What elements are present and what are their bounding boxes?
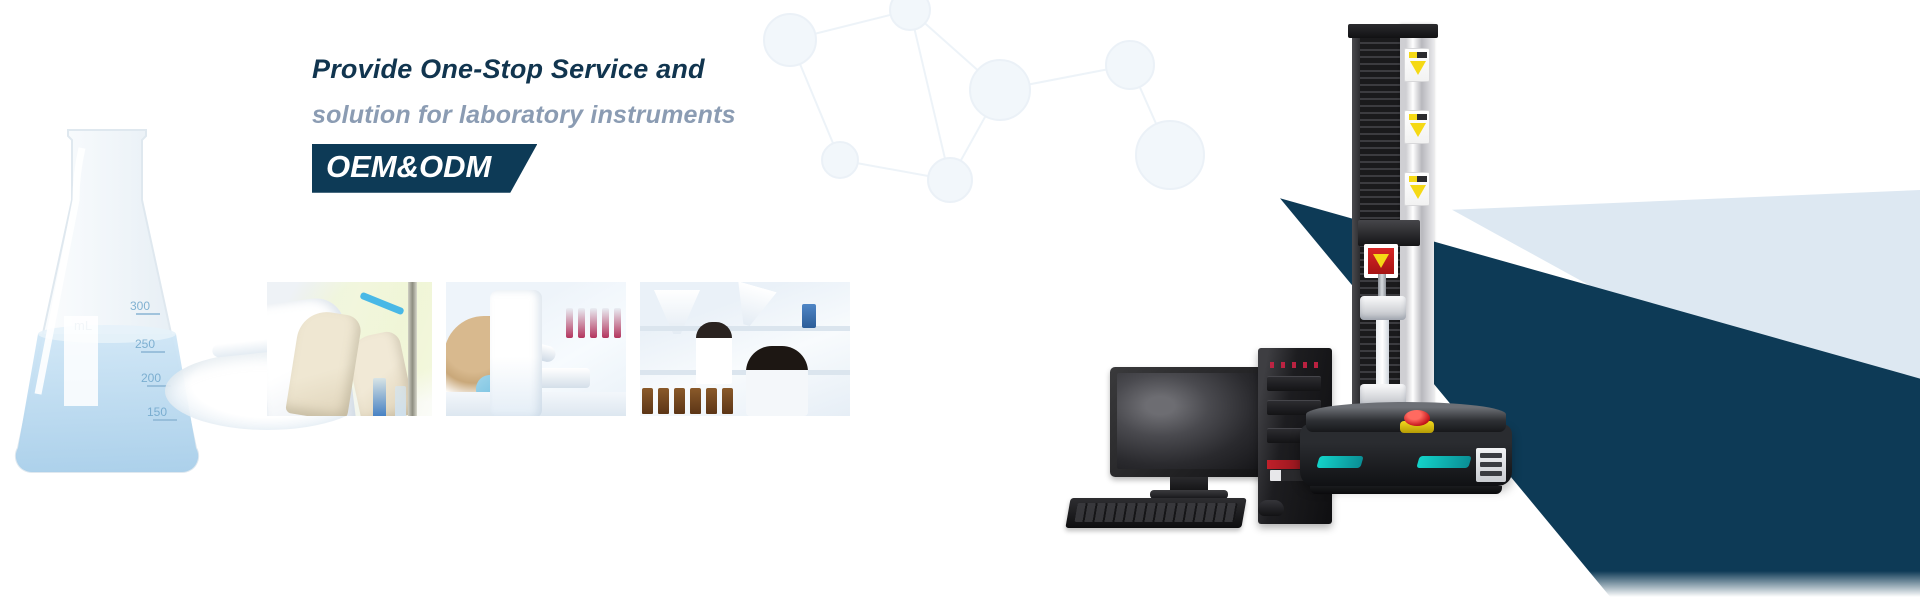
upper-grip (1360, 296, 1406, 320)
funnel-icon (727, 282, 776, 331)
machine-base (1300, 402, 1512, 498)
flask-graduation: 150 (147, 405, 167, 419)
warning-label-icon (1404, 48, 1430, 82)
base-feet (1310, 486, 1502, 494)
microscope-base-icon (530, 368, 590, 388)
lab-worker (696, 322, 732, 384)
microscope-arm-icon (507, 336, 557, 363)
erlenmeyer-flask: 300 250 200 150 mL (8, 118, 208, 488)
monitor-stand (1170, 477, 1208, 491)
microscope-head-icon (492, 308, 525, 353)
headline-line-1: Provide One-Stop Service and (312, 56, 872, 83)
headline-block: Provide One-Stop Service and solution fo… (312, 56, 872, 193)
column-cap (1348, 24, 1438, 38)
oem-odm-badge[interactable]: OEM&ODM (312, 144, 537, 193)
mouse[interactable] (1258, 500, 1284, 516)
flask-graduation: 300 (130, 299, 150, 313)
connector-panel (1476, 448, 1506, 482)
reagent-bottle-icon (802, 304, 816, 328)
keyboard[interactable] (1065, 498, 1246, 528)
photo-lab-team (640, 282, 850, 416)
photo-pipetting (267, 282, 432, 416)
load-cell (1364, 244, 1398, 278)
specimen (1376, 320, 1389, 386)
pipette-icon (359, 292, 404, 316)
emergency-stop-button[interactable] (1404, 410, 1430, 426)
reagent-bottle-row (642, 378, 734, 414)
tower-indicator-leds (1270, 362, 1322, 368)
lab-stand-icon (408, 282, 417, 416)
bottom-fade (0, 571, 1920, 597)
crosshead (1358, 220, 1420, 246)
base-accent-light-right (1416, 456, 1471, 468)
test-tube-icon (373, 378, 386, 416)
test-tube-icon (395, 386, 406, 416)
warning-label-icon (1404, 110, 1430, 144)
lab-bench (446, 392, 626, 416)
monitor-screen (1117, 373, 1261, 469)
optical-drive-bay (1267, 376, 1321, 391)
hero-banner: 300 250 200 150 mL Provide One-Stop Serv… (0, 0, 1920, 597)
photo-strip (267, 282, 850, 416)
photo-microscope (446, 282, 626, 416)
flask-graduation: 200 (141, 371, 161, 385)
flask-graduation: 250 (135, 337, 155, 351)
lcd-monitor (1110, 367, 1268, 477)
lab-shelf (640, 326, 850, 331)
warning-label-icon (1404, 172, 1430, 206)
base-accent-light-left (1316, 456, 1363, 468)
lab-worker (746, 346, 808, 416)
test-tube-rack-icon (566, 308, 624, 342)
lab-shelf (640, 370, 850, 375)
headline-line-2: solution for laboratory instruments (312, 103, 872, 128)
